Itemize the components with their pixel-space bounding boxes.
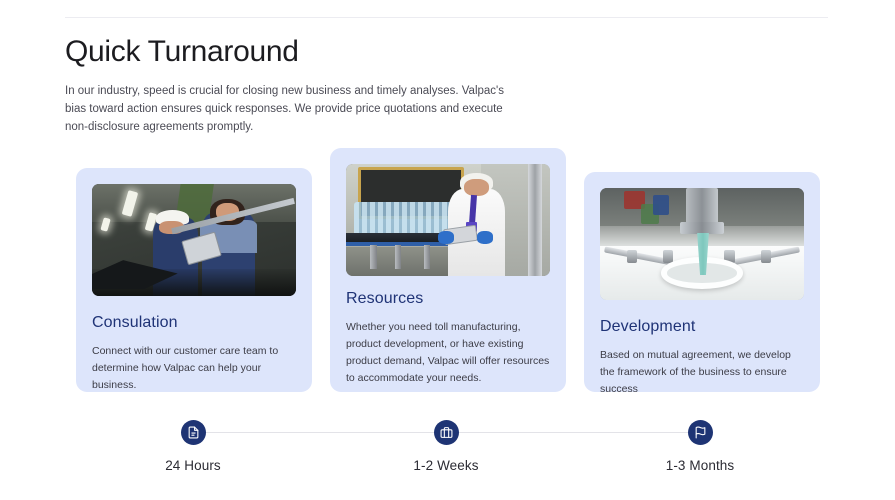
timeline-label-1-2-weeks: 1-2 Weeks xyxy=(366,458,526,473)
card-title-resources: Resources xyxy=(346,290,550,308)
card-title-consulation: Consulation xyxy=(92,314,296,332)
card-image-consulation xyxy=(92,184,296,296)
card-title-development: Development xyxy=(600,318,804,336)
turnaround-timeline: 24 Hours 1-2 Weeks 1-3 Months xyxy=(0,412,895,482)
card-grid: Consulation Connect with our customer ca… xyxy=(0,0,895,400)
card-body-development: Based on mutual agreement, we develop th… xyxy=(600,347,804,398)
timeline-step-1-3-months[interactable]: 1-3 Months xyxy=(620,412,780,473)
document-icon xyxy=(181,420,206,445)
card-resources[interactable]: Resources Whether you need toll manufact… xyxy=(330,148,566,392)
card-consulation[interactable]: Consulation Connect with our customer ca… xyxy=(76,168,312,392)
card-development[interactable]: Development Based on mutual agreement, w… xyxy=(584,172,820,392)
card-body-consulation: Connect with our customer care team to d… xyxy=(92,343,296,394)
card-image-development xyxy=(600,188,804,300)
flag-icon xyxy=(688,420,713,445)
timeline-step-1-2-weeks[interactable]: 1-2 Weeks xyxy=(366,412,526,473)
quick-turnaround-section: Quick Turnaround In our industry, speed … xyxy=(0,0,895,500)
timeline-label-1-3-months: 1-3 Months xyxy=(620,458,780,473)
card-body-resources: Whether you need toll manufacturing, pro… xyxy=(346,319,550,387)
timeline-label-24-hours: 24 Hours xyxy=(113,458,273,473)
card-image-resources xyxy=(346,164,550,276)
briefcase-icon xyxy=(434,420,459,445)
timeline-step-24-hours[interactable]: 24 Hours xyxy=(113,412,273,473)
